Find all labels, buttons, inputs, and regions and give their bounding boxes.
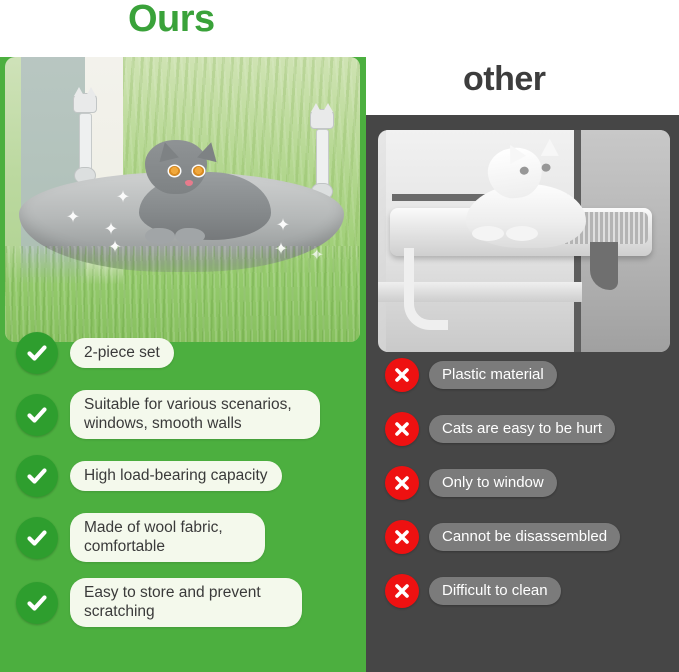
list-item: Cannot be disassembled (385, 520, 675, 554)
check-icon (16, 582, 58, 624)
other-product-photo (378, 130, 670, 352)
hammock-bracket-arm-left (404, 248, 448, 330)
list-item-label: Easy to store and prevent scratching (70, 578, 302, 627)
white-cat (466, 142, 590, 248)
list-item-label: Suitable for various scenarios, windows,… (70, 390, 320, 439)
list-item-label: 2-piece set (70, 338, 174, 368)
check-icon (16, 455, 58, 497)
list-item-label: Made of wool fabric, comfortable (70, 513, 265, 562)
hammock-bracket-arm-right (590, 242, 618, 290)
page-title-ours: Ours (128, 0, 215, 41)
ours-feature-list: 2-piece set Suitable for various scenari… (16, 332, 352, 643)
list-item: Only to window (385, 466, 675, 500)
list-item: 2-piece set (16, 332, 352, 374)
other-feature-list: Plastic material Cats are easy to be hur… (385, 358, 675, 628)
ours-product-photo: ✦ ✦ ✦ ✦ ✦ ✦ ✦ (5, 57, 360, 342)
list-item: Suitable for various scenarios, windows,… (16, 390, 352, 439)
cat-bracket-left-icon (73, 93, 97, 184)
list-item-label: High load-bearing capacity (70, 461, 282, 491)
photo-grass-foreground (5, 246, 360, 342)
gray-cat (131, 132, 271, 242)
cross-icon (385, 412, 419, 446)
cross-icon (385, 466, 419, 500)
cross-icon (385, 574, 419, 608)
check-icon (16, 394, 58, 436)
list-item: Plastic material (385, 358, 675, 392)
list-item: Cats are easy to be hurt (385, 412, 675, 446)
list-item-label: Difficult to clean (429, 577, 561, 605)
cat-bracket-right-icon (310, 109, 334, 200)
list-item: Made of wool fabric, comfortable (16, 513, 352, 562)
check-icon (16, 332, 58, 374)
list-item: Difficult to clean (385, 574, 675, 608)
cross-icon (385, 520, 419, 554)
page-title-other: other (463, 60, 546, 99)
list-item-label: Only to window (429, 469, 557, 497)
list-item: High load-bearing capacity (16, 455, 352, 497)
list-item-label: Cannot be disassembled (429, 523, 620, 551)
check-icon (16, 517, 58, 559)
list-item: Easy to store and prevent scratching (16, 578, 352, 627)
list-item-label: Cats are easy to be hurt (429, 415, 615, 443)
list-item-label: Plastic material (429, 361, 557, 389)
cross-icon (385, 358, 419, 392)
